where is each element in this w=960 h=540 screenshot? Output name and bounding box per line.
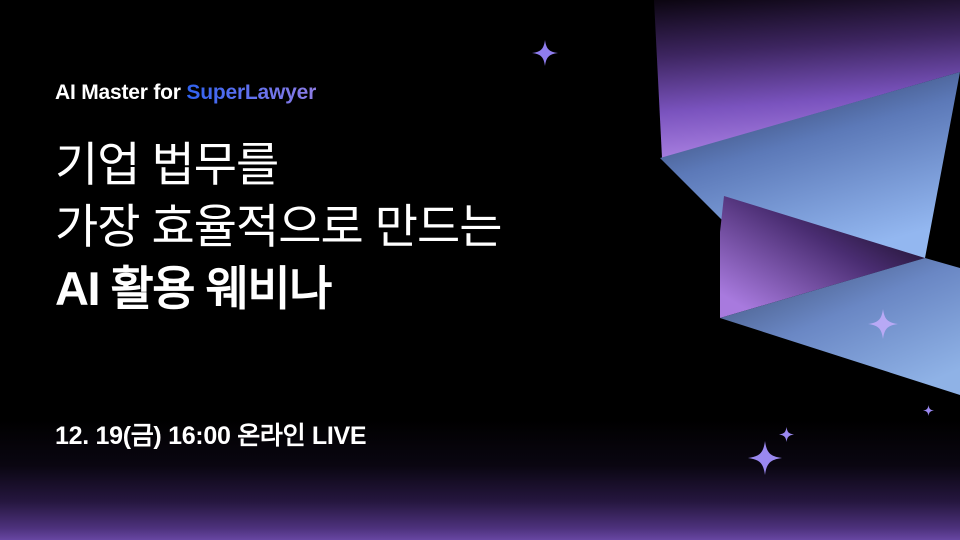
webinar-promo-banner: AI Master for SuperLawyer 기업 법무를 가장 효율적으… bbox=[0, 0, 960, 540]
headline-line-1: 기업 법무를 bbox=[55, 134, 502, 196]
brand-name-superlawyer: SuperLawyer bbox=[186, 81, 316, 104]
chevron-gradient-graphic bbox=[640, 0, 960, 540]
eyebrow-lead-text: AI Master for bbox=[55, 81, 186, 104]
schedule-text: 12. 19(금) 16:00 온라인 LIVE bbox=[55, 420, 366, 453]
banner-text-block: AI Master for SuperLawyer 기업 법무를 가장 효율적으… bbox=[55, 0, 675, 540]
headline-line-3: AI 활용 웨비나 bbox=[55, 258, 502, 320]
eyebrow-title: AI Master for SuperLawyer bbox=[55, 82, 316, 103]
page-title: 기업 법무를 가장 효율적으로 만드는 AI 활용 웨비나 bbox=[55, 134, 502, 320]
headline-line-2: 가장 효율적으로 만드는 bbox=[55, 196, 502, 258]
